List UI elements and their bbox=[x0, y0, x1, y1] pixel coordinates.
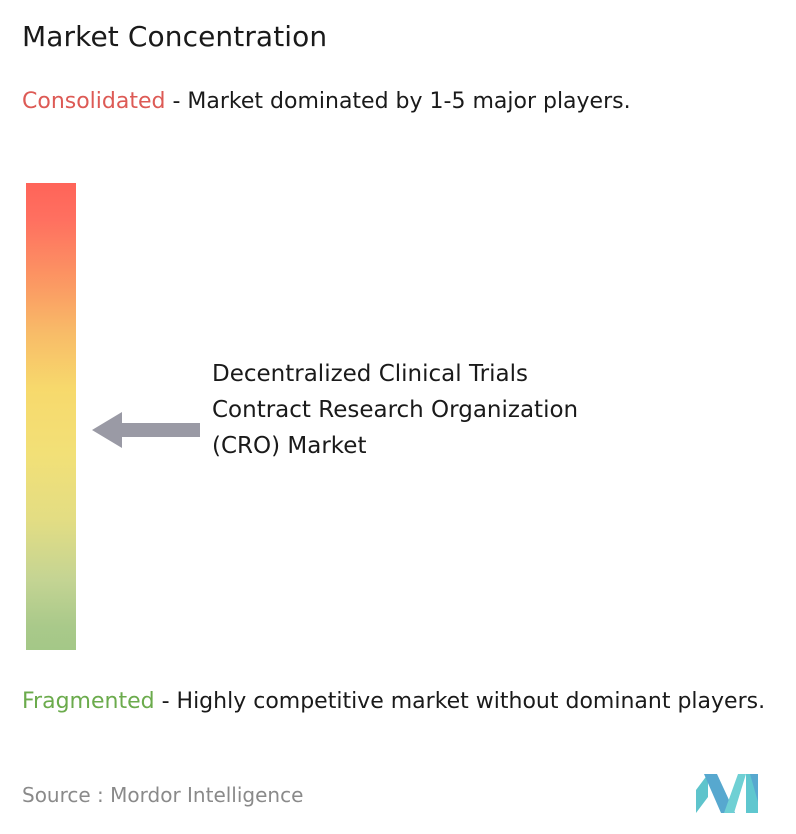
source-label: Source : bbox=[22, 783, 104, 807]
source-value: Mordor Intelligence bbox=[110, 783, 303, 807]
source-attribution: Source : Mordor Intelligence bbox=[22, 782, 303, 808]
legend-consolidated: Consolidated - Market dominated by 1-5 m… bbox=[22, 86, 762, 117]
mordor-intelligence-logo-icon bbox=[694, 772, 770, 814]
legend-fragmented: Fragmented - Highly competitive market w… bbox=[22, 686, 782, 717]
legend-term-consolidated: Consolidated bbox=[22, 89, 165, 114]
market-callout-label: Decentralized Clinical Trials Contract R… bbox=[212, 356, 612, 464]
legend-separator-top: - bbox=[165, 89, 187, 114]
concentration-gradient-bar bbox=[26, 183, 76, 650]
page-title: Market Concentration bbox=[22, 20, 327, 54]
legend-description-consolidated: Market dominated by 1-5 major players. bbox=[187, 89, 630, 114]
legend-term-fragmented: Fragmented bbox=[22, 689, 155, 714]
pointer-arrow-left bbox=[92, 406, 200, 454]
legend-description-fragmented: Highly competitive market without domina… bbox=[177, 689, 766, 714]
legend-separator-bottom: - bbox=[155, 689, 177, 714]
